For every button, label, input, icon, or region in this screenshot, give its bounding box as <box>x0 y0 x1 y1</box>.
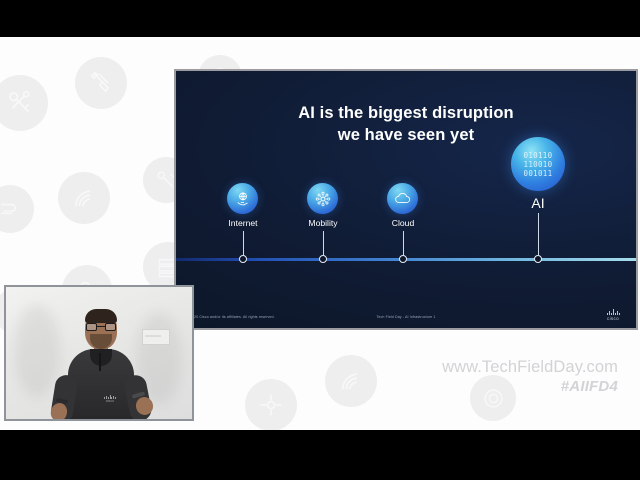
techfieldday-url: www.TechFieldDay.com <box>442 358 618 377</box>
watermark-icon-wifi <box>58 172 110 224</box>
timeline-label-mobility: Mobility <box>297 218 349 228</box>
cisco-logo-bars <box>607 309 620 315</box>
presentation-slide-frame: AI is the biggest disruption we have see… <box>174 69 638 330</box>
timeline-label-cloud: Cloud <box>377 218 429 228</box>
techfieldday-watermark: www.TechFieldDay.com #AIIFD4 <box>442 358 618 396</box>
cisco-logo: cisco <box>600 309 626 321</box>
watermark-icon-wifi-2 <box>325 355 377 407</box>
timeline-marker-ai <box>534 255 542 263</box>
letterbox-top <box>0 0 640 37</box>
watermark-icon-node <box>245 379 297 430</box>
presenter-glasses <box>86 323 116 331</box>
timeline-marker-internet <box>239 255 247 263</box>
whiteboard-marker-tray <box>142 329 170 345</box>
presenter-shirt-cisco-logo: cisco <box>101 394 119 403</box>
network-hub-icon <box>307 183 338 214</box>
video-player-stage: www.TechFieldDay.com #AIIFD4 AI is the b… <box>0 0 640 480</box>
techfieldday-hashtag: #AIIFD4 <box>442 378 618 395</box>
slide-title-line-1: AI is the biggest disruption <box>176 103 636 125</box>
timeline-stem-internet <box>243 231 244 255</box>
timeline-label-internet: Internet <box>217 218 269 228</box>
presenter-hair <box>85 309 117 323</box>
watermark-icon-shovel <box>75 57 127 109</box>
presenter-placket <box>99 353 101 371</box>
presenter-shirt-logo-word: cisco <box>106 399 114 403</box>
ai-binary-line-2: 110010 <box>524 160 553 169</box>
ai-binary-line-1: 010110 <box>524 151 553 160</box>
cisco-logo-wordmark: cisco <box>607 316 619 321</box>
wall-shadow-left <box>14 305 60 397</box>
timeline-stem-mobility <box>323 231 324 255</box>
timeline-stem-cloud <box>403 231 404 255</box>
ai-sphere-icon: 010110 110010 001011 <box>511 137 565 191</box>
ai-binary-line-3: 001011 <box>524 169 553 178</box>
presentation-slide: AI is the biggest disruption we have see… <box>176 71 636 328</box>
globe-hand-icon <box>227 183 258 214</box>
timeline-stem-ai <box>538 213 539 255</box>
cloud-icon <box>387 183 418 214</box>
timeline-marker-mobility <box>319 255 327 263</box>
slide-title-line-2: we have seen yet <box>176 125 636 147</box>
slide-footer-session: Tech Field Day - AI Infrastructure 1 <box>176 315 636 319</box>
letterbox-bottom <box>0 430 640 480</box>
slide-title: AI is the biggest disruption we have see… <box>176 103 636 147</box>
presenter-video-inset[interactable]: cisco <box>4 285 194 421</box>
watermark-icon-key <box>0 75 48 131</box>
timeline-marker-cloud <box>399 255 407 263</box>
watermark-icon-pipe <box>0 185 34 233</box>
timeline-label-ai: AI <box>511 195 565 211</box>
